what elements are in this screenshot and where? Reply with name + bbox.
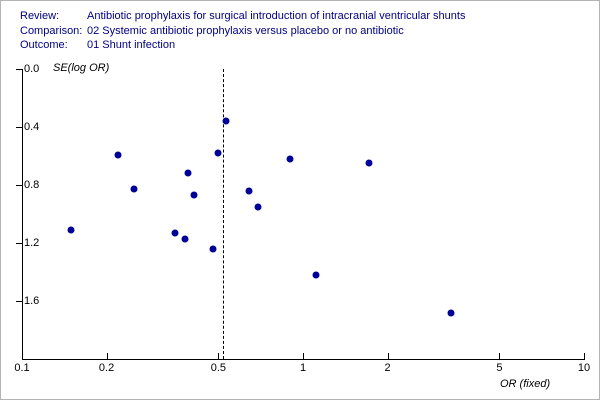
x-axis-tick: [22, 353, 23, 360]
y-axis-tick: [16, 243, 22, 244]
y-axis-tick-label: 0.4: [24, 121, 39, 133]
data-point: [210, 245, 217, 252]
y-axis-tick-label: 1.6: [24, 295, 39, 307]
x-axis-tick-label: 0.2: [99, 362, 114, 374]
data-point: [254, 203, 261, 210]
y-axis-tick-label: 0.8: [24, 179, 39, 191]
y-axis-title: SE(log OR): [53, 62, 109, 74]
reference-line: [223, 69, 224, 359]
x-axis-tick: [303, 353, 304, 360]
x-axis-title: OR (fixed): [500, 378, 550, 390]
funnel-plot-screen: Review: Antibiotic prophylaxis for surgi…: [0, 0, 600, 400]
y-axis-tick-label: 0.0: [24, 63, 39, 75]
data-point: [312, 271, 319, 278]
data-point: [191, 192, 198, 199]
y-axis-tick: [16, 127, 22, 128]
data-point: [115, 151, 122, 158]
x-axis-tick: [388, 353, 389, 360]
data-point: [68, 226, 75, 233]
x-axis-tick-label: 10: [578, 362, 590, 374]
data-point: [245, 187, 252, 194]
y-axis-line: [22, 69, 23, 359]
y-axis-tick: [16, 69, 22, 70]
data-point: [181, 235, 188, 242]
y-axis-tick: [16, 185, 22, 186]
y-axis-tick: [16, 301, 22, 302]
x-axis-tick: [218, 353, 219, 360]
x-axis-tick: [499, 353, 500, 360]
data-point: [171, 229, 178, 236]
data-point: [222, 118, 229, 125]
data-point: [447, 309, 454, 316]
data-point: [287, 155, 294, 162]
funnel-plot: 0.00.40.81.21.6 0.10.20.512510 SE(log OR…: [1, 1, 600, 400]
y-axis-tick-label: 1.2: [24, 237, 39, 249]
x-axis-tick-label: 5: [496, 362, 502, 374]
data-point: [366, 160, 373, 167]
data-point: [215, 150, 222, 157]
x-axis-tick: [584, 353, 585, 360]
x-axis-tick-label: 2: [385, 362, 391, 374]
x-axis-tick-label: 0.1: [14, 362, 29, 374]
data-point: [185, 170, 192, 177]
x-axis-tick-label: 1: [300, 362, 306, 374]
data-point: [130, 186, 137, 193]
x-axis-tick-label: 0.5: [211, 362, 226, 374]
x-axis-tick: [107, 353, 108, 360]
